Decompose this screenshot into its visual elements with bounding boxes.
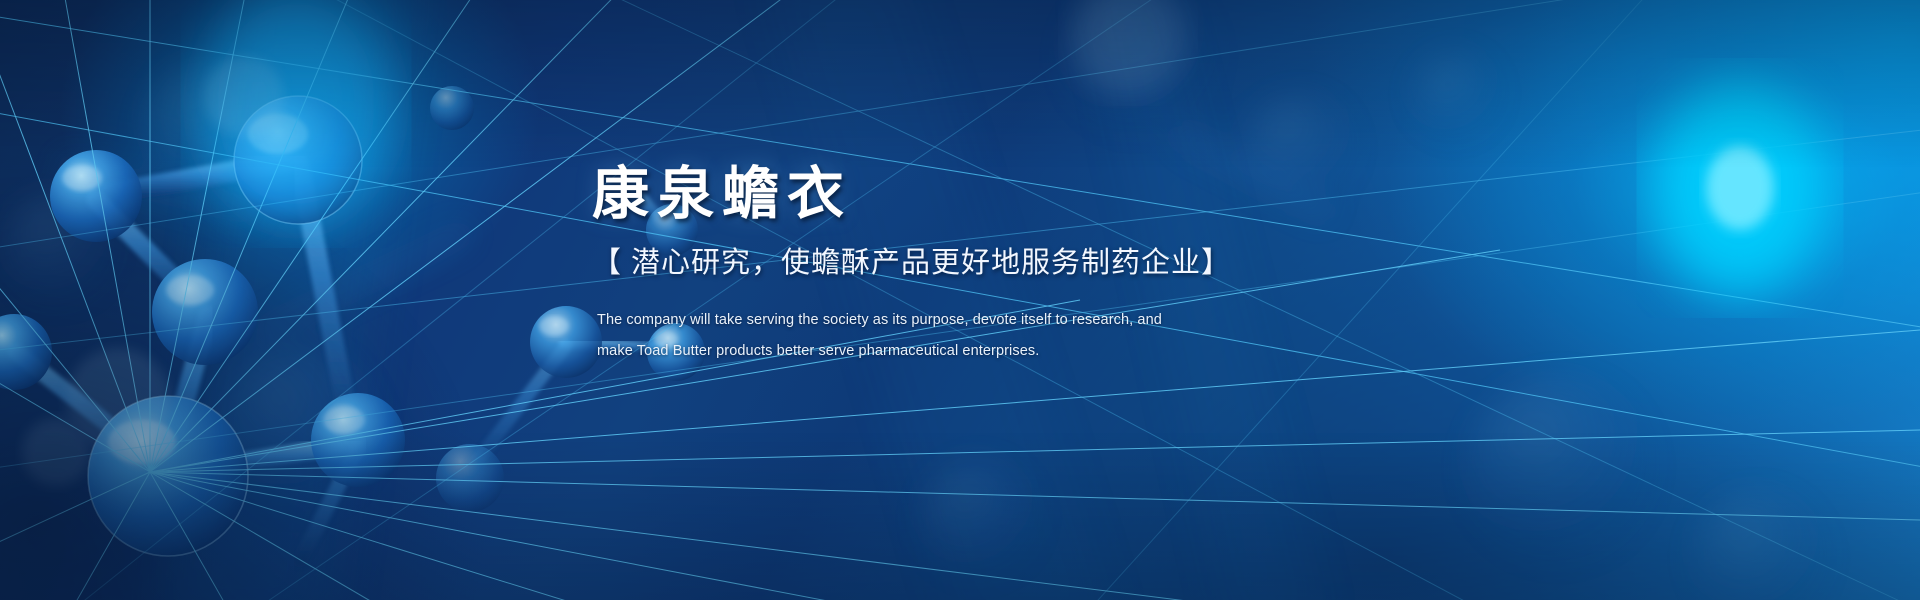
- hero-title: 康泉蟾衣: [592, 166, 1572, 223]
- sphere-bottom-center: [436, 444, 504, 512]
- hero-english-description: The company will take serving the societ…: [597, 305, 1572, 365]
- sphere-mid-left: [50, 150, 142, 242]
- hero-copy: 康泉蟾衣 【 潜心研究，使蟾酥产品更好地服务制药企业】 The company …: [592, 166, 1572, 366]
- hero-subtitle: 【 潜心研究，使蟾酥产品更好地服务制药企业】: [592, 247, 1572, 280]
- hero-english-line-2: make Toad Butter products better serve p…: [597, 336, 1572, 366]
- hero-banner: 康泉蟾衣 【 潜心研究，使蟾酥产品更好地服务制药企业】 The company …: [0, 0, 1920, 600]
- hero-english-line-1: The company will take serving the societ…: [597, 305, 1572, 335]
- sphere-center-left: [152, 259, 258, 365]
